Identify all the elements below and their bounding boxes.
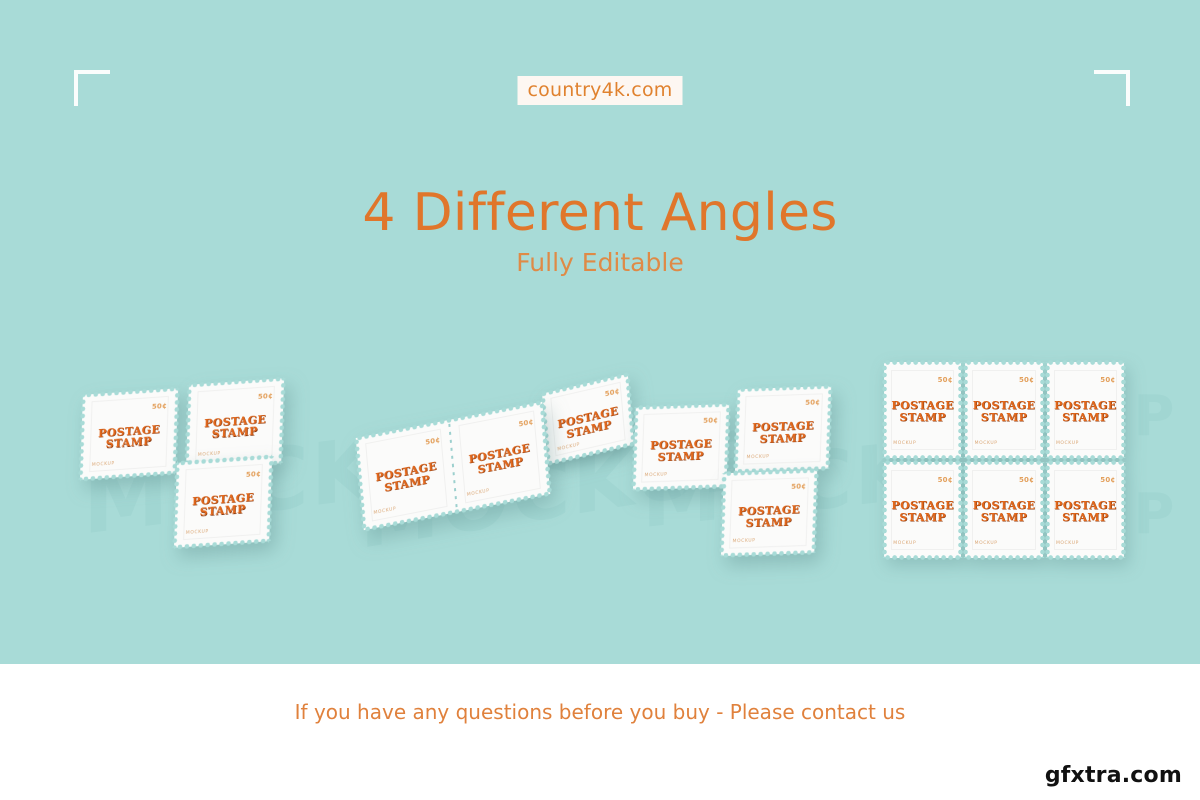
stamp-card: 50¢ POSTAGE STAMP MOCKUP bbox=[965, 362, 1042, 458]
stamp-card-peeling: 50¢ POSTAGE STAMP MOCKUP bbox=[542, 374, 634, 464]
stamp-body: 50¢ POSTAGE STAMP MOCKUP bbox=[449, 402, 550, 512]
stamp-title: POSTAGE STAMP bbox=[884, 400, 961, 424]
page-subtitle: Fully Editable bbox=[0, 248, 1200, 277]
stamp-footer-label: MOCKUP bbox=[893, 541, 916, 546]
stamp-title: POSTAGE STAMP bbox=[1047, 500, 1124, 524]
stamp-denomination: 50¢ bbox=[1019, 476, 1034, 484]
stamp-title: POSTAGE STAMP bbox=[884, 500, 961, 524]
stamp-denomination: 50¢ bbox=[1019, 376, 1034, 384]
stamp-body: 50¢ POSTAGE STAMP MOCKUP bbox=[721, 470, 817, 556]
stamp-title-line2: STAMP bbox=[965, 512, 1042, 524]
stamp-card: 50¢ POSTAGE STAMP MOCKUP bbox=[633, 404, 729, 490]
gfxtra-watermark: gfxtra.com bbox=[1045, 763, 1182, 788]
stamp-denomination: 50¢ bbox=[805, 399, 820, 408]
stamp-footer-label: MOCKUP bbox=[1056, 541, 1079, 546]
stamp-footer-label: MOCKUP bbox=[975, 541, 998, 546]
stamp-footer-label: MOCKUP bbox=[975, 441, 998, 446]
stamp-denomination: 50¢ bbox=[258, 392, 273, 401]
angle-group-scattered-left: MOCKUP 50¢ POSTAGE STAMP MOCKUP 50¢ bbox=[75, 370, 345, 570]
stamp-strip-sheet: 50¢ POSTAGE STAMP MOCKUP 50¢ POSTAGE STA… bbox=[356, 402, 551, 530]
stamp-body: 50¢ POSTAGE STAMP MOCKUP bbox=[542, 374, 634, 464]
stamp-title-line2: STAMP bbox=[884, 512, 961, 524]
stamp-body: 50¢ POSTAGE STAMP MOCKUP bbox=[1047, 362, 1124, 458]
stamp-body: 50¢ POSTAGE STAMP MOCKUP bbox=[1047, 462, 1124, 558]
angle-group-scattered-right: MOCKUP 50¢ POSTAGE STAMP MOCKUP 50¢ bbox=[632, 380, 882, 570]
stamp-title: POSTAGE STAMP bbox=[965, 400, 1042, 424]
stamp-card: 50¢ POSTAGE STAMP MOCKUP bbox=[449, 402, 550, 512]
stamp-card: 50¢ POSTAGE STAMP MOCKUP bbox=[965, 462, 1042, 558]
contact-note: If you have any questions before you buy… bbox=[0, 700, 1200, 724]
stamp-card: 50¢ POSTAGE STAMP MOCKUP bbox=[174, 456, 272, 548]
stamp-body: 50¢ POSTAGE STAMP MOCKUP bbox=[735, 386, 831, 472]
stamp-denomination: 50¢ bbox=[938, 476, 953, 484]
stamp-denomination: 50¢ bbox=[791, 483, 806, 492]
stamp-title-line2: STAMP bbox=[1047, 512, 1124, 524]
site-watermark: country4k.com bbox=[518, 76, 683, 105]
stamp-card: 50¢ POSTAGE STAMP MOCKUP bbox=[884, 362, 961, 458]
stamp-denomination: 50¢ bbox=[703, 417, 718, 426]
stamp-body: 50¢ POSTAGE STAMP MOCKUP bbox=[80, 388, 178, 480]
stamp-card: 50¢ POSTAGE STAMP MOCKUP bbox=[884, 462, 961, 558]
angle-group-sheet-grid: MOCKUP MOCKUP 50¢ POSTAGE STAMP MOCKUP bbox=[884, 362, 1124, 558]
stamp-footer-label: MOCKUP bbox=[732, 539, 755, 545]
stamp-footer-label: MOCKUP bbox=[1056, 441, 1079, 446]
stamp-body: 50¢ POSTAGE STAMP MOCKUP bbox=[356, 420, 457, 530]
stamp-body: 50¢ POSTAGE STAMP MOCKUP bbox=[965, 462, 1042, 558]
stamp-card: 50¢ POSTAGE STAMP MOCKUP bbox=[735, 386, 831, 472]
stamp-title: POSTAGE STAMP bbox=[722, 503, 816, 530]
stamp-denomination: 50¢ bbox=[1100, 376, 1115, 384]
stamp-card: 50¢ POSTAGE STAMP MOCKUP bbox=[1047, 462, 1124, 558]
stamp-title: POSTAGE STAMP bbox=[965, 500, 1042, 524]
stamp-title: POSTAGE STAMP bbox=[634, 437, 728, 464]
stamp-body: 50¢ POSTAGE STAMP MOCKUP bbox=[174, 456, 272, 548]
corner-bracket-top-right-icon bbox=[1094, 70, 1130, 106]
stamp-title-line2: STAMP bbox=[1047, 412, 1124, 424]
corner-bracket-top-left-icon bbox=[74, 70, 110, 106]
stamp-title-line2: STAMP bbox=[965, 412, 1042, 424]
stamp-card: 50¢ POSTAGE STAMP MOCKUP bbox=[80, 388, 178, 480]
stamp-body: 50¢ POSTAGE STAMP MOCKUP bbox=[884, 462, 961, 558]
stamp-title: POSTAGE STAMP bbox=[1047, 400, 1124, 424]
angle-group-strip-peel: MOCKUP 50¢ POSTAGE STAMP MOCKUP 50¢ bbox=[352, 382, 637, 567]
stamp-footer-label: MOCKUP bbox=[746, 455, 769, 461]
stamp-card: 50¢ POSTAGE STAMP MOCKUP bbox=[356, 420, 457, 530]
stamp-body: 50¢ POSTAGE STAMP MOCKUP bbox=[884, 362, 961, 458]
stamp-body: 50¢ POSTAGE STAMP MOCKUP bbox=[633, 404, 729, 490]
promo-page: country4k.com 4 Different Angles Fully E… bbox=[0, 0, 1200, 800]
stamp-card: 50¢ POSTAGE STAMP MOCKUP bbox=[1047, 362, 1124, 458]
stamp-denomination: 50¢ bbox=[938, 376, 953, 384]
stamp-denomination: 50¢ bbox=[152, 402, 167, 411]
stamp-denomination: 50¢ bbox=[1100, 476, 1115, 484]
stamp-footer-label: MOCKUP bbox=[893, 441, 916, 446]
stamp-card: 50¢ POSTAGE STAMP MOCKUP bbox=[721, 470, 817, 556]
stamp-body: 50¢ POSTAGE STAMP MOCKUP bbox=[965, 362, 1042, 458]
stamp-title-line2: STAMP bbox=[884, 412, 961, 424]
stamp-sheet-grid: 50¢ POSTAGE STAMP MOCKUP 50¢ PO bbox=[884, 362, 1124, 558]
stamp-title: POSTAGE STAMP bbox=[736, 419, 830, 446]
stamp-footer-label: MOCKUP bbox=[644, 473, 667, 479]
page-title: 4 Different Angles bbox=[0, 183, 1200, 243]
stamp-denomination: 50¢ bbox=[246, 470, 261, 479]
